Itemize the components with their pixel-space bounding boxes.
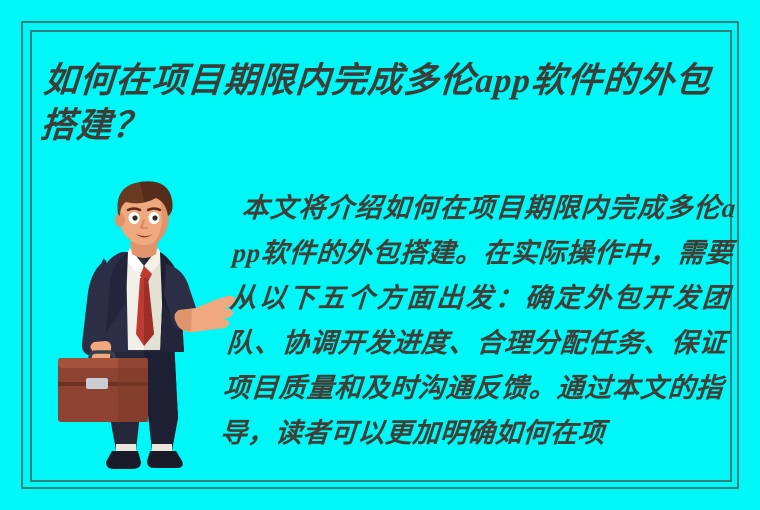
pupil-right: [152, 215, 157, 220]
briefcase-shade: [118, 358, 148, 422]
trousers-shade: [144, 340, 178, 450]
sock-left: [116, 444, 136, 452]
shoe-left: [106, 451, 141, 469]
sock-right: [152, 444, 172, 452]
briefcase-clasp: [86, 378, 108, 389]
poster-canvas: 如何在项目期限内完成多伦app软件的外包搭建？: [0, 0, 760, 510]
page-title: 如何在项目期限内完成多伦app软件的外包搭建？: [39, 58, 735, 148]
body-paragraph: 本文将介绍如何在项目期限内完成多伦app软件的外包搭建。在实际操作中，需要从以下…: [219, 186, 738, 456]
businessman-illustration: [48, 172, 238, 477]
shoe-right: [147, 451, 183, 468]
pupil-left: [132, 215, 137, 220]
